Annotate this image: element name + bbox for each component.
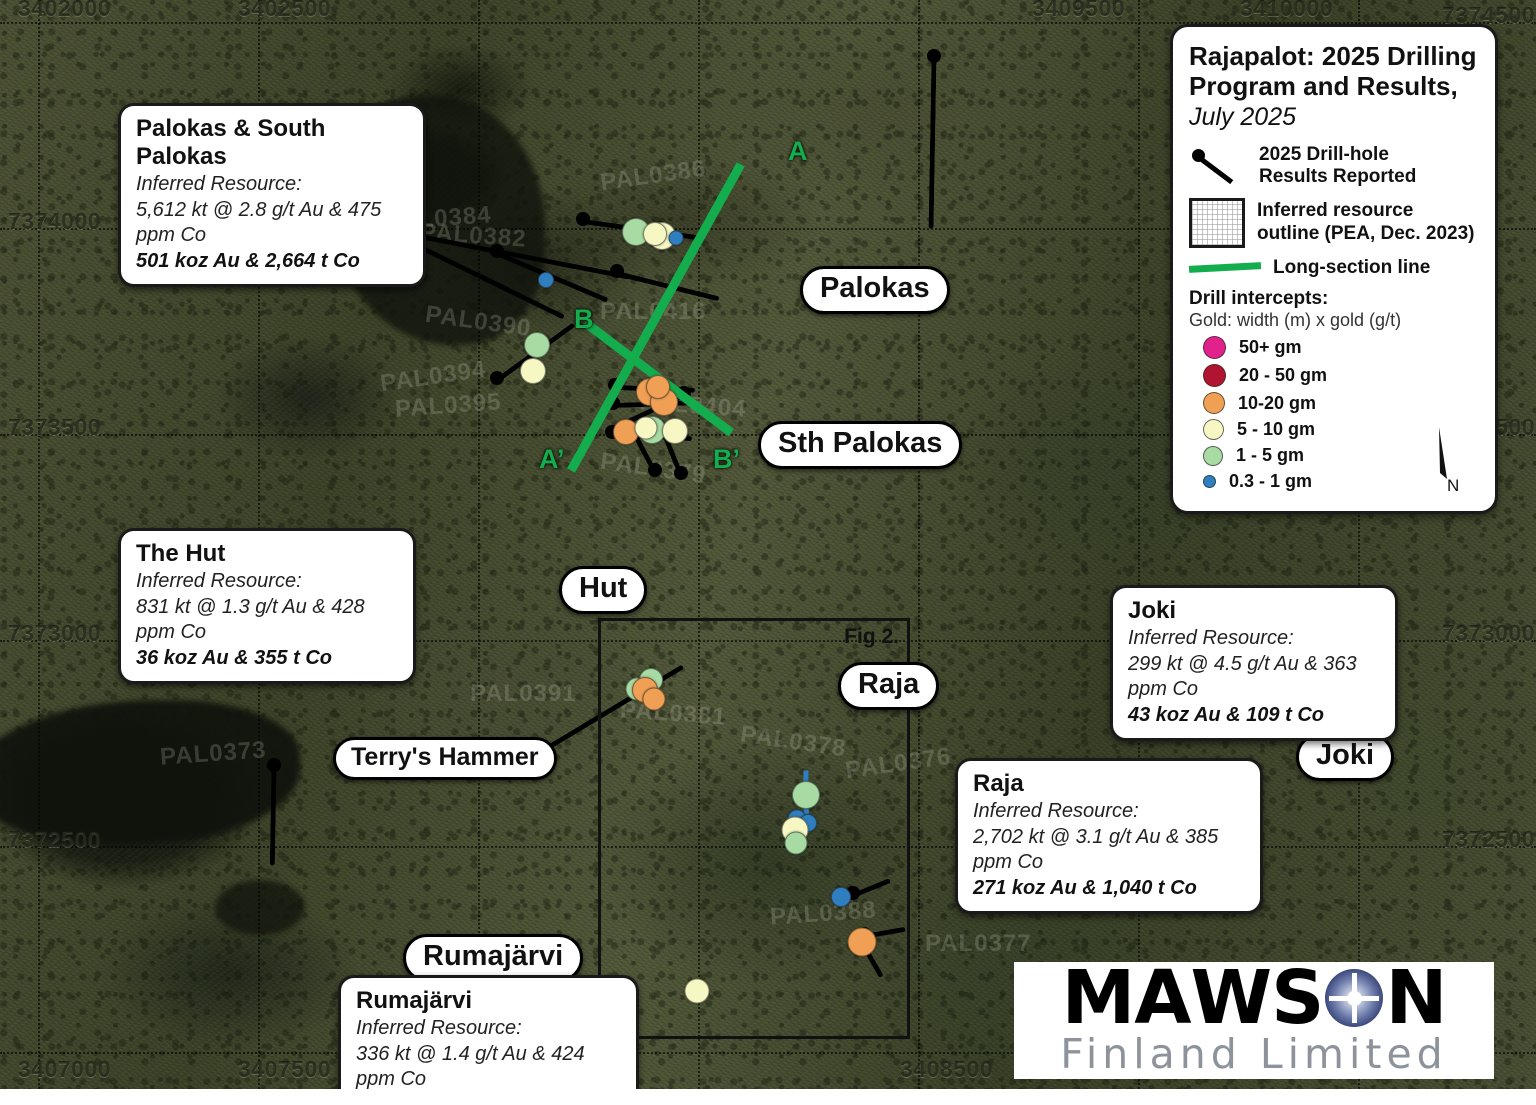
resource-box-line1: Inferred Resource:: [356, 1016, 621, 1042]
drill-intercept-dot: [646, 375, 670, 399]
legend-title-line1: Rajapalot: 2025 Drilling: [1189, 41, 1479, 71]
resource-box-title: Palokas & South Palokas: [136, 115, 408, 171]
resource-box-rumajarvi: RumajärviInferred Resource:336 kt @ 1.4 …: [338, 975, 639, 1105]
legend-intercept-label: 1 - 5 gm: [1236, 445, 1304, 466]
coord-label-northing: 7374000: [8, 208, 101, 235]
legend-intercepts-title: Drill intercepts:: [1189, 288, 1479, 310]
resource-box-title: Joki: [1128, 597, 1380, 625]
resource-box-raja: RajaInferred Resource:2,702 kt @ 3.1 g/t…: [955, 758, 1263, 914]
resource-box-line2: 2,702 kt @ 3.1 g/t Au & 385 ppm Co: [973, 825, 1245, 876]
resource-box-line3: 501 koz Au & 2,664 t Co: [136, 250, 408, 273]
logo-globe-icon: [1325, 969, 1383, 1027]
legend-drillhole-label-l1: 2025 Drill-hole: [1259, 144, 1416, 166]
drill-hole-collar: [490, 371, 504, 385]
drill-hole-collar: [674, 466, 688, 480]
resource-box-palokas: Palokas & South PalokasInferred Resource…: [118, 103, 426, 287]
resource-box-line2: 336 kt @ 1.4 g/t Au & 424 ppm Co: [356, 1042, 621, 1093]
coord-label-easting: 3408500: [900, 1056, 993, 1083]
coord-label-northing: 7373000: [1442, 620, 1535, 647]
legend-intercept-label: 10-20 gm: [1238, 393, 1316, 414]
basemap-hole-id: PAL0377: [925, 930, 1032, 958]
section-label-b: B: [574, 304, 594, 335]
legend-panel: Rajapalot: 2025 Drilling Program and Res…: [1170, 24, 1498, 514]
coord-label-easting: 3402500: [238, 0, 331, 22]
grid-line-vertical: [38, 0, 40, 1105]
grid-line-vertical: [918, 0, 920, 1105]
drill-intercept-dot: [662, 418, 688, 444]
legend-intercept-label: 20 - 50 gm: [1239, 365, 1327, 386]
map-figure: 3402000 3402500 3409500 3410000 3407000 …: [0, 0, 1536, 1105]
legend-row-drillhole: 2025 Drill-hole Results Reported: [1189, 144, 1479, 189]
basemap-hole-id: PAL0391: [470, 680, 577, 708]
resource-box-line3: 271 koz Au & 1,040 t Co: [973, 877, 1245, 900]
drill-intercept-dot: [669, 231, 684, 246]
logo-letter-m: M: [1062, 961, 1135, 1035]
drill-hole-collar: [610, 264, 624, 278]
drill-intercept-dot: [635, 417, 658, 440]
drill-intercept-dot: [643, 222, 667, 246]
logo-letter-a: A: [1134, 961, 1190, 1035]
place-label-palokas: Palokas: [800, 266, 950, 314]
resource-box-line1: Inferred Resource:: [1128, 626, 1380, 652]
intercept-swatch-icon: [1203, 364, 1226, 387]
resource-box-joki: JokiInferred Resource:299 kt @ 4.5 g/t A…: [1110, 585, 1398, 741]
north-arrow-icon: N: [1423, 423, 1477, 497]
drill-hole-icon: [1189, 146, 1247, 186]
legend-row-resource-outline: Inferred resource outline (PEA, Dec. 202…: [1189, 198, 1479, 248]
resource-box-title: Rumajärvi: [356, 987, 621, 1015]
drill-intercept-dot: [524, 332, 550, 358]
coord-label-northing: 7373000: [8, 620, 101, 647]
legend-intercept-label: 0.3 - 1 gm: [1229, 471, 1312, 492]
legend-title-line2: Program and Results,: [1189, 71, 1479, 101]
resource-box-the-hut: The HutInferred Resource:831 kt @ 1.3 g/…: [118, 528, 416, 684]
place-label-raja: Raja: [838, 662, 939, 710]
drill-hole-collar: [648, 463, 662, 477]
coord-label-easting: 3402000: [18, 0, 111, 22]
coord-label-easting: 3410000: [1240, 0, 1333, 22]
resource-outline-icon: [1189, 198, 1245, 248]
section-label-a: A: [788, 136, 808, 167]
legend-row-section-line: Long-section line: [1189, 257, 1479, 279]
mawson-logo: M A W S N Finland Limited: [1014, 962, 1494, 1079]
legend-subtitle: July 2025: [1189, 103, 1479, 132]
lake-polygon-small: [215, 880, 305, 935]
legend-intercept-class: 50+ gm: [1203, 336, 1479, 359]
coord-label-easting: 3409500: [1032, 0, 1125, 22]
coord-label-easting: 3407000: [18, 1056, 111, 1083]
logo-letter-s: S: [1271, 961, 1323, 1035]
legend-drillhole-label-l2: Results Reported: [1259, 166, 1416, 188]
legend-intercept-label: 50+ gm: [1239, 337, 1302, 358]
place-label-terrys-hammer: Terry's Hammer: [333, 737, 557, 780]
coord-label-northing: 7372500: [8, 826, 101, 853]
resource-box-line3: 43 koz Au & 109 t Co: [1128, 704, 1380, 727]
legend-intercept-label: 5 - 10 gm: [1237, 419, 1315, 440]
drill-hole-collar: [490, 244, 504, 258]
long-section-line-icon: [1189, 262, 1261, 273]
grid-line-vertical: [1138, 0, 1140, 1105]
intercept-swatch-icon: [1203, 475, 1216, 488]
legend-section-label: Long-section line: [1273, 257, 1430, 279]
intercept-swatch-icon: [1203, 446, 1223, 466]
drill-intercept-dot: [520, 358, 546, 384]
fig2-label: Fig 2.: [844, 625, 899, 649]
intercept-swatch-icon: [1203, 392, 1225, 414]
svg-text:N: N: [1447, 476, 1459, 495]
drill-intercept-dot: [538, 272, 554, 288]
figure-bottom-bar: [0, 1089, 1536, 1105]
drill-hole-collar: [267, 758, 281, 772]
coord-label-northing: 7373500: [8, 414, 101, 441]
legend-resource-label-l2: outline (PEA, Dec. 2023): [1257, 223, 1475, 245]
drill-hole-collar: [927, 49, 941, 63]
resource-box-line2: 831 kt @ 1.3 g/t Au & 428 ppm Co: [136, 595, 398, 646]
resource-box-line2: 299 kt @ 4.5 g/t Au & 363 ppm Co: [1128, 652, 1380, 703]
coord-label-northing: 7372500: [1442, 826, 1535, 853]
section-label-b-prime: B’: [713, 444, 740, 475]
legend-intercept-class: 20 - 50 gm: [1203, 364, 1479, 387]
resource-box-line2: 5,612 kt @ 2.8 g/t Au & 475 ppm Co: [136, 198, 408, 249]
legend-intercepts-subtitle: Gold: width (m) x gold (g/t): [1189, 310, 1479, 331]
section-label-a-prime: A’: [539, 444, 565, 475]
logo-letter-w: W: [1191, 961, 1272, 1035]
resource-box-line3: 36 koz Au & 355 t Co: [136, 647, 398, 670]
legend-intercept-class: 10-20 gm: [1203, 392, 1479, 414]
resource-box-title: Raja: [973, 770, 1245, 798]
place-label-hut: Hut: [559, 566, 647, 614]
resource-box-line1: Inferred Resource:: [136, 569, 398, 595]
resource-box-line1: Inferred Resource:: [136, 172, 408, 198]
resource-box-line1: Inferred Resource:: [973, 799, 1245, 825]
intercept-swatch-icon: [1203, 336, 1226, 359]
place-label-sth-palokas: Sth Palokas: [758, 421, 962, 469]
legend-resource-label-l1: Inferred resource: [1257, 200, 1475, 222]
drill-hole-collar: [576, 212, 590, 226]
intercept-swatch-icon: [1203, 419, 1224, 440]
logo-letter-n: N: [1385, 961, 1446, 1035]
mawson-wordmark: M A W S N: [1014, 962, 1494, 1034]
resource-box-title: The Hut: [136, 540, 398, 568]
coord-label-easting: 3407500: [238, 1056, 331, 1083]
